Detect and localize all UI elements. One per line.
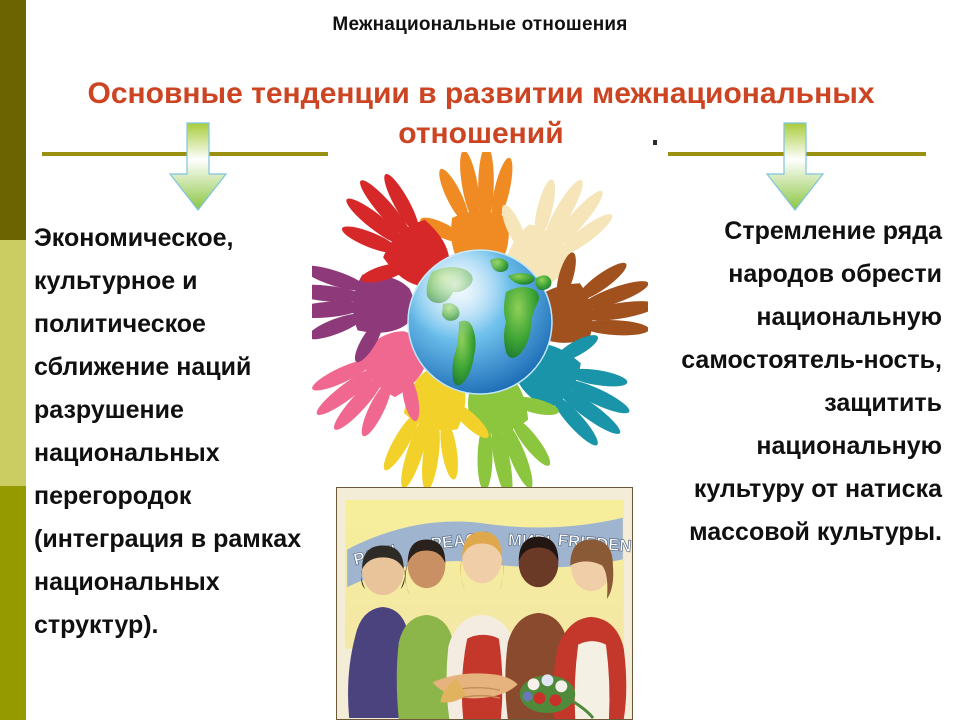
globe-with-hands-illustration	[312, 152, 648, 488]
down-arrow-right-icon	[764, 122, 826, 212]
page-header-title: Межнациональные отношения	[0, 14, 960, 36]
right-column-text: Стремление ряда народов обрести национал…	[640, 210, 942, 554]
slide-canvas: Межнациональные отношения Основные тенде…	[0, 0, 960, 720]
decorative-sidebar	[0, 0, 26, 720]
sidebar-segment-bottom	[0, 486, 26, 720]
sidebar-segment-middle	[0, 240, 26, 486]
sidebar-segment-top	[0, 0, 26, 240]
stray-period-mark	[653, 140, 657, 145]
down-arrow-left-icon	[167, 122, 229, 212]
vintage-peace-poster-image: PAIX! PEACE МИР! FRIEDEN	[336, 487, 633, 720]
left-column-text: Экономическое, культурное и политическое…	[34, 217, 344, 647]
